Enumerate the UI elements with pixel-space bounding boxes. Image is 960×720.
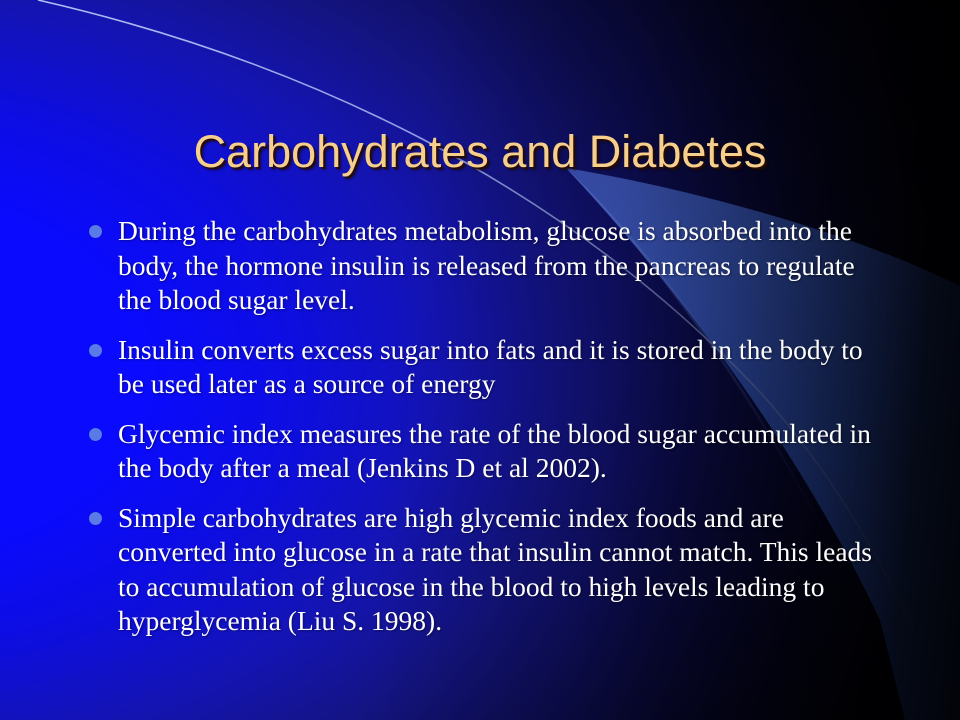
list-item: Insulin converts excess sugar into fats … — [84, 333, 884, 402]
slide-title: Carbohydrates and Diabetes — [0, 126, 960, 178]
list-item: During the carbohydrates metabolism, glu… — [84, 214, 884, 318]
bullet-dot-icon — [89, 225, 102, 238]
bullet-dot-icon — [89, 344, 102, 357]
bullet-text: Glycemic index measures the rate of the … — [118, 417, 884, 486]
bullet-dot-icon — [89, 512, 102, 525]
bullet-text: During the carbohydrates metabolism, glu… — [118, 214, 884, 318]
bullet-text: Simple carbohydrates are high glycemic i… — [118, 501, 884, 639]
bullet-text: Insulin converts excess sugar into fats … — [118, 333, 884, 402]
slide: Carbohydrates and Diabetes During the ca… — [0, 0, 960, 720]
list-item: Simple carbohydrates are high glycemic i… — [84, 501, 884, 639]
bullet-dot-icon — [89, 428, 102, 441]
list-item: Glycemic index measures the rate of the … — [84, 417, 884, 486]
slide-body: During the carbohydrates metabolism, glu… — [84, 214, 884, 639]
